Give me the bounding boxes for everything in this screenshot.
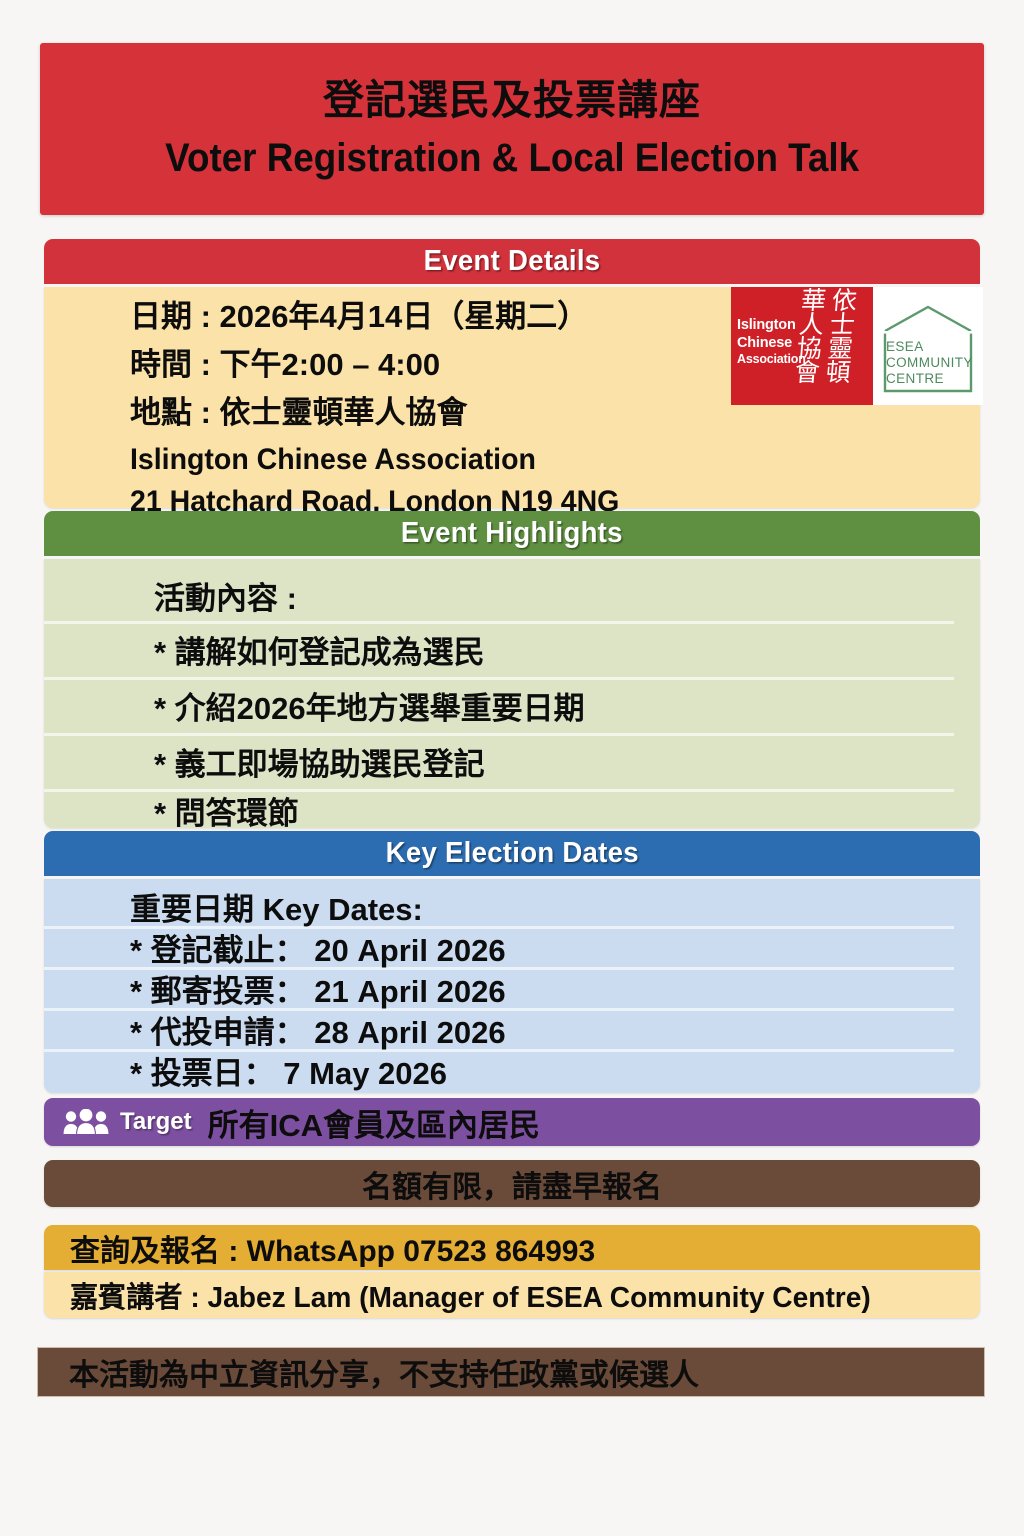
limited-places-notice-text: 名額有限，請盡早報名 [362, 1162, 662, 1206]
key-date-item-3: * 代投申請： 28 April 2026 [130, 1017, 506, 1048]
row-separator [44, 621, 954, 624]
speaker-bar: 嘉賓講者 : Jabez Lam (Manager of ESEA Commun… [44, 1272, 980, 1318]
limited-places-notice-bar: 名額有限，請盡早報名 [44, 1160, 980, 1207]
row-separator [44, 733, 954, 736]
highlight-item-3: * 義工即場協助選民登記 [154, 749, 485, 780]
esea-logo-line3: CENTRE [886, 371, 973, 387]
people-group-icon [63, 1109, 109, 1135]
row-separator [44, 789, 954, 792]
highlight-item-2: * 介紹2026年地方選舉重要日期 [154, 693, 585, 724]
section-header-event-highlights-label: Event Highlights [401, 517, 623, 550]
highlight-item-1: * 講解如何登記成為選民 [154, 637, 485, 668]
ica-logo-line2: Chinese [737, 335, 806, 353]
event-detail-date: 日期 : 2026年4月14日（星期二） [130, 301, 588, 332]
ica-logo-line1: Islington [737, 317, 806, 335]
contact-bar: 查詢及報名 : WhatsApp 07523 864993 [44, 1225, 980, 1270]
esea-logo-line1: ESEA [886, 339, 973, 355]
disclaimer-text: 本活動為中立資訊分享，不支持任政黨或候選人 [69, 1350, 699, 1394]
section-header-event-details: Event Details [44, 239, 980, 284]
row-separator [44, 677, 954, 680]
title-banner: 登記選民及投票講座 Voter Registration & Local Ele… [40, 43, 984, 215]
logo-group: Islington Chinese Association 華 依 人 士 協 … [731, 287, 983, 405]
poster-title-english: Voter Registration & Local Election Talk [165, 133, 859, 183]
section-header-event-highlights: Event Highlights [44, 511, 980, 556]
event-detail-venue: 地點 : 依士靈頓華人協會 [130, 397, 468, 428]
esea-logo-text: ESEA COMMUNITY CENTRE [886, 339, 973, 387]
speaker-text: 嘉賓講者 : Jabez Lam (Manager of ESEA Commun… [70, 1274, 871, 1316]
target-audience-bar: Target 所有ICA會員及區內居民 [44, 1098, 980, 1146]
esea-community-centre-logo: ESEA COMMUNITY CENTRE [873, 287, 983, 405]
key-date-item-1: * 登記截止： 20 April 2026 [130, 935, 506, 966]
disclaimer-bar: 本活動為中立資訊分享，不支持任政黨或候選人 [37, 1347, 985, 1397]
highlights-intro: 活動內容 : [154, 583, 297, 614]
section-body-key-election-dates: 重要日期 Key Dates: * 登記截止： 20 April 2026 * … [44, 879, 980, 1093]
section-header-key-election-dates-label: Key Election Dates [385, 837, 638, 870]
target-label: Target [120, 1108, 192, 1136]
poster-title-chinese: 登記選民及投票講座 [323, 75, 701, 125]
section-header-key-election-dates: Key Election Dates [44, 831, 980, 876]
esea-logo-line2: COMMUNITY [886, 355, 973, 371]
section-header-event-details-label: Event Details [424, 245, 601, 278]
ica-logo-calligraphy: 華 依 人 士 協 靈 會 頓 [792, 289, 873, 405]
highlight-item-4: * 問答環節 [154, 798, 299, 829]
ica-calligraphy-row-4: 會 頓 [794, 361, 872, 385]
key-date-item-4: * 投票日： 7 May 2026 [130, 1058, 447, 1089]
section-body-event-highlights: 活動內容 : * 講解如何登記成為選民 * 介紹2026年地方選舉重要日期 * … [44, 559, 980, 828]
poster-canvas: 登記選民及投票講座 Voter Registration & Local Ele… [0, 0, 1024, 1536]
contact-text: 查詢及報名 : WhatsApp 07523 864993 [70, 1226, 595, 1270]
key-date-item-2: * 郵寄投票： 21 April 2026 [130, 976, 506, 1007]
target-value: 所有ICA會員及區內居民 [208, 1100, 540, 1145]
event-detail-org: Islington Chinese Association [130, 445, 536, 475]
event-detail-time: 時間 : 下午2:00 – 4:00 [130, 349, 440, 380]
islington-chinese-association-logo: Islington Chinese Association 華 依 人 士 協 … [731, 287, 873, 405]
key-dates-intro: 重要日期 Key Dates: [130, 894, 423, 925]
